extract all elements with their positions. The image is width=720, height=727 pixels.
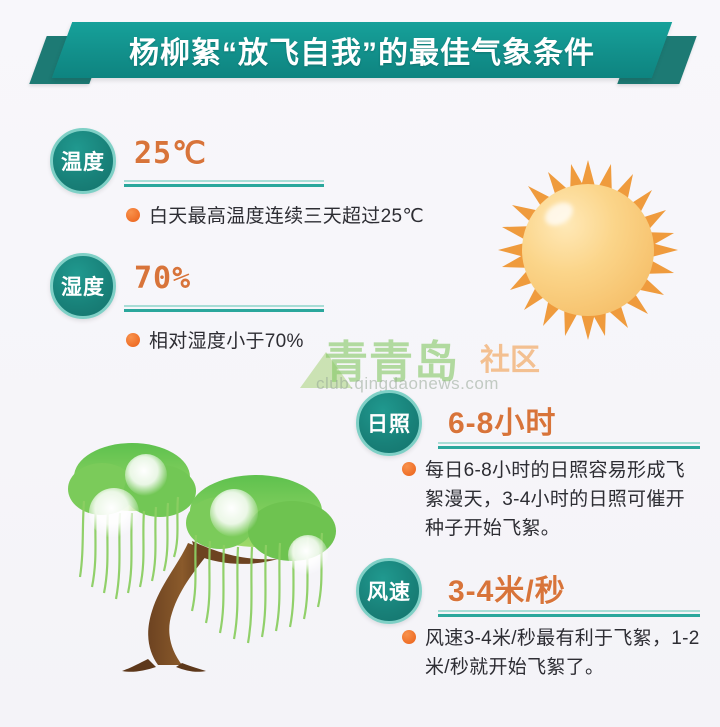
bullet-dot-icon	[402, 630, 416, 644]
metric-value-wind-speed: 3-4米/秒	[448, 566, 566, 610]
willow-tree-illustration	[40, 415, 360, 700]
metric-detail-sunshine: 每日6-8小时的日照容易形成飞絮漫天，3-4小时的日照可催开种子开始飞絮。	[402, 456, 702, 543]
metric-detail-wind-speed: 风速3-4米/秒最有利于飞絮，1-2米/秒就开始飞絮了。	[402, 624, 702, 682]
metric-value-temperature: 25℃	[134, 136, 207, 171]
metric-detail-text: 相对湿度小于70%	[149, 327, 304, 356]
bullet-dot-icon	[402, 462, 416, 476]
watermark-url: club.qingdaonews.com	[316, 374, 499, 394]
sun-core	[522, 184, 654, 316]
metric-badge-temperature: 温度	[50, 128, 116, 194]
metric-divider	[124, 180, 324, 188]
metric-value-sunshine: 6-8小时	[448, 398, 556, 442]
metric-badge-wind-speed: 风速	[356, 558, 422, 624]
title-ribbon: 杨柳絮“放飞自我”的最佳气象条件	[0, 14, 720, 90]
watermark-subtitle: 社区	[480, 335, 540, 379]
metric-value-humidity: 70%	[134, 261, 191, 296]
bullet-dot-icon	[126, 333, 140, 347]
metric-divider	[438, 442, 700, 450]
page-title: 杨柳絮“放飞自我”的最佳气象条件	[62, 22, 662, 78]
sun-icon	[498, 160, 678, 340]
metric-detail-temperature: 白天最高温度连续三天超过25℃	[126, 202, 466, 231]
bullet-dot-icon	[126, 208, 140, 222]
metric-divider	[124, 305, 324, 313]
metric-detail-text: 风速3-4米/秒最有利于飞絮，1-2米/秒就开始飞絮了。	[425, 624, 702, 682]
metric-detail-text: 每日6-8小时的日照容易形成飞絮漫天，3-4小时的日照可催开种子开始飞絮。	[425, 456, 702, 543]
metric-detail-humidity: 相对湿度小于70%	[126, 327, 466, 356]
metric-badge-humidity: 湿度	[50, 253, 116, 319]
metric-divider	[438, 610, 700, 618]
metric-detail-text: 白天最高温度连续三天超过25℃	[149, 202, 424, 231]
leaf-icon	[300, 352, 352, 388]
metric-badge-sunshine: 日照	[356, 390, 422, 456]
infographic-poster: 杨柳絮“放飞自我”的最佳气象条件	[0, 0, 720, 727]
